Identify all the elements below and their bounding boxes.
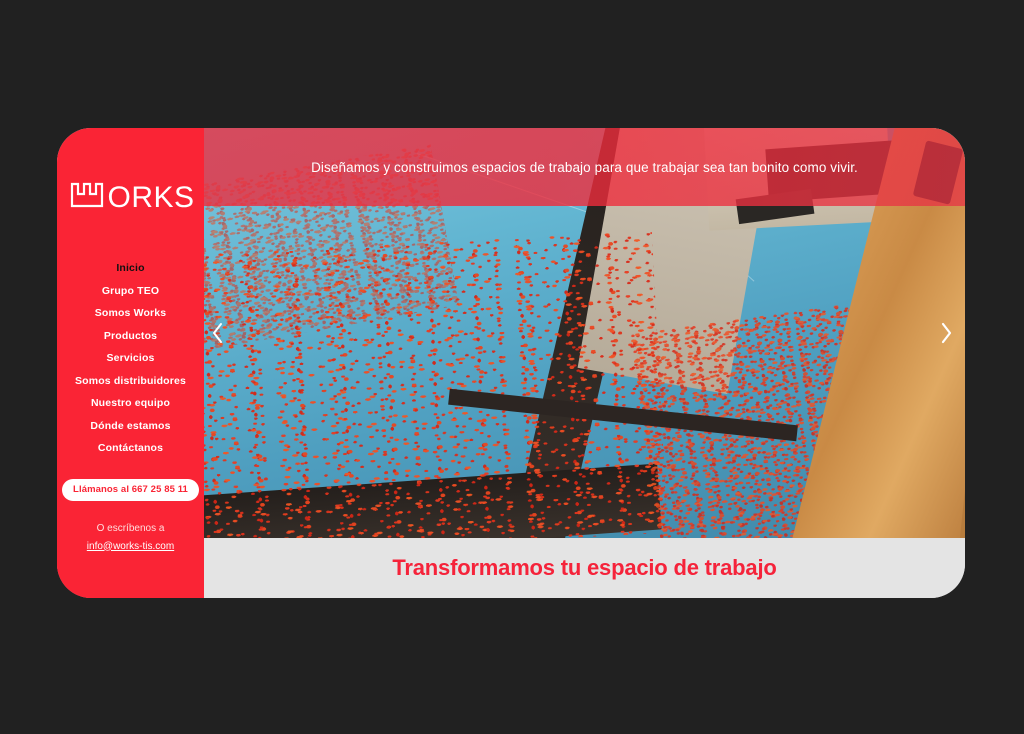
nav-item-contactanos[interactable]: Contáctanos <box>94 437 167 460</box>
carousel-next-icon[interactable] <box>933 313 959 353</box>
hero-footer-band: Transformamos tu espacio de trabajo <box>204 538 965 598</box>
nav-item-somos-distribuidores[interactable]: Somos distribuidores <box>71 370 190 393</box>
content-column: Diseñamos y construimos espacios de trab… <box>204 128 965 598</box>
write-to-us-label: O escríbenos a <box>57 521 204 536</box>
nav-item-grupo-teo[interactable]: Grupo TEO <box>98 280 163 303</box>
contact-block: O escríbenos a info@works-tis.com <box>57 521 204 555</box>
nav-item-servicios[interactable]: Servicios <box>102 347 158 370</box>
page-title: Transformamos tu espacio de trabajo <box>392 555 776 581</box>
website-card: ORKS Inicio Grupo TEO Somos Works Produc… <box>57 128 965 598</box>
brand-logo[interactable]: ORKS <box>57 182 204 213</box>
nav-item-donde-estamos[interactable]: Dónde estamos <box>86 415 174 438</box>
nav-item-productos[interactable]: Productos <box>100 325 161 348</box>
brand-wordmark: ORKS <box>107 183 194 213</box>
call-us-button[interactable]: Llámanos al 667 25 85 11 <box>62 479 199 501</box>
sidebar: ORKS Inicio Grupo TEO Somos Works Produc… <box>57 128 204 598</box>
nav-item-somos-works[interactable]: Somos Works <box>91 302 170 325</box>
email-link[interactable]: info@works-tis.com <box>87 539 174 555</box>
hero-carousel: Diseñamos y construimos espacios de trab… <box>204 128 965 538</box>
primary-navigation: Inicio Grupo TEO Somos Works Productos S… <box>57 257 204 460</box>
nav-item-nuestro-equipo[interactable]: Nuestro equipo <box>87 392 174 415</box>
works-w-monogram-icon <box>70 182 104 213</box>
hero-tagline-text: Diseñamos y construimos espacios de trab… <box>311 160 858 175</box>
carousel-prev-icon[interactable] <box>204 313 230 353</box>
nav-item-inicio[interactable]: Inicio <box>112 257 148 280</box>
hero-tagline-banner: Diseñamos y construimos espacios de trab… <box>204 128 965 206</box>
